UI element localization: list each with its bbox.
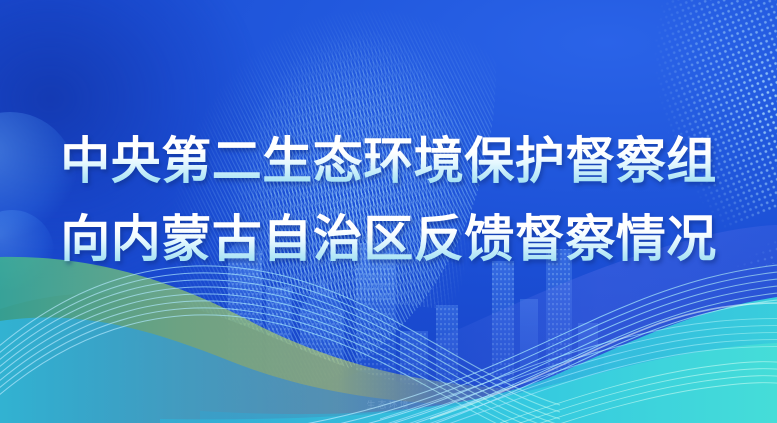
- page-title: 中央第二生态环境保护督察组 向内蒙古自治区反馈督察情况: [0, 122, 777, 278]
- poster-canvas: 生态环境 中央第二生态环境保护督察组 向内蒙古自治区反馈督察情况: [0, 0, 777, 423]
- title-line-1: 中央第二生态环境保护督察组: [0, 122, 777, 200]
- background-watermark: 生态环境: [366, 398, 410, 411]
- title-line-2: 向内蒙古自治区反馈督察情况: [0, 200, 777, 278]
